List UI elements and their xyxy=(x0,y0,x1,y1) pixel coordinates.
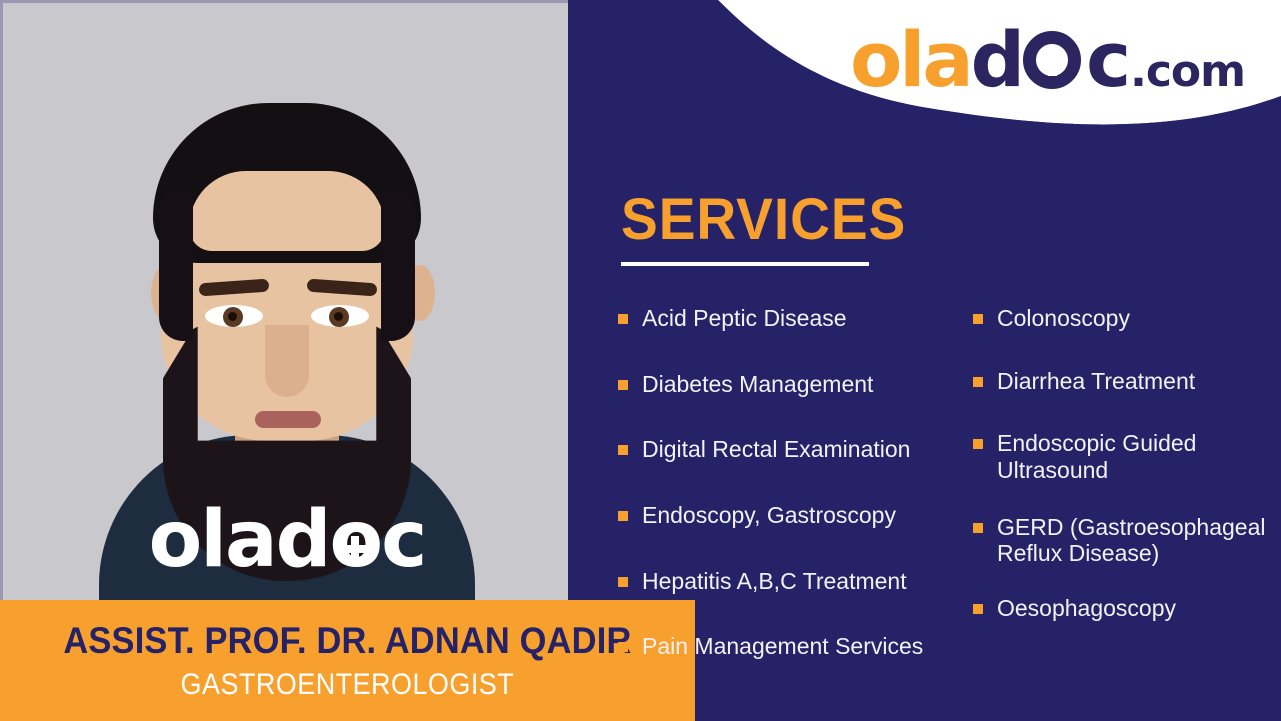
list-item: Pain Management Services xyxy=(618,633,968,660)
watermark-text-before: olad xyxy=(149,495,330,585)
portrait-forehead xyxy=(189,171,385,251)
doctor-services-poster: oladoc ASSIST. PROF. DR. ADNAN QADIR GAS… xyxy=(0,0,1281,721)
portrait-sideburn-right xyxy=(381,191,415,341)
portrait-eye-left xyxy=(205,305,263,327)
watermark-o-plus-icon: o xyxy=(329,501,381,579)
doctor-name: ASSIST. PROF. DR. ADNAN QADIR xyxy=(63,620,631,662)
oladoc-logo: oladc.com xyxy=(850,22,1245,98)
service-label: Endoscopy, Gastroscopy xyxy=(642,502,968,529)
list-item: Oesophagoscopy xyxy=(973,595,1268,622)
bullet-square-icon xyxy=(973,314,983,324)
portrait-eye-right xyxy=(311,305,369,327)
portrait-sideburn-left xyxy=(159,191,193,341)
service-label: Colonoscopy xyxy=(997,305,1268,332)
services-column-right: Colonoscopy Diarrhea Treatment Endoscopi… xyxy=(973,305,1268,658)
service-label: Oesophagoscopy xyxy=(997,595,1268,622)
service-label: Hepatitis A,B,C Treatment xyxy=(642,568,968,595)
list-item: GERD (Gastroesophageal Reflux Disease) xyxy=(973,514,1268,567)
list-item: Endoscopy, Gastroscopy xyxy=(618,502,968,529)
portrait-mouth xyxy=(255,411,321,428)
doctor-name-banner: ASSIST. PROF. DR. ADNAN QADIR GASTROENTE… xyxy=(0,600,695,721)
bullet-square-icon xyxy=(618,380,628,390)
services-heading-underline xyxy=(621,262,869,266)
services-column-left: Acid Peptic Disease Diabetes Management … xyxy=(618,305,968,699)
watermark-text-after: c xyxy=(381,495,425,585)
oladoc-watermark: oladoc xyxy=(3,501,568,579)
service-label: Diabetes Management xyxy=(642,371,968,398)
services-list: Acid Peptic Disease Diabetes Management … xyxy=(618,305,1268,685)
bullet-square-icon xyxy=(973,439,983,449)
bullet-square-icon xyxy=(973,604,983,614)
portrait-cheek-right xyxy=(319,363,371,417)
bullet-square-icon xyxy=(973,377,983,387)
bullet-square-icon xyxy=(618,445,628,455)
bullet-square-icon xyxy=(973,523,983,533)
logo-text-ola: ola xyxy=(850,22,971,98)
list-item: Diabetes Management xyxy=(618,371,968,398)
logo-text-d: d xyxy=(971,22,1022,98)
service-label: Diarrhea Treatment xyxy=(997,368,1268,395)
bullet-square-icon xyxy=(618,511,628,521)
list-item: Acid Peptic Disease xyxy=(618,305,968,332)
portrait-nose xyxy=(265,325,309,397)
service-label: Pain Management Services xyxy=(642,633,968,660)
bullet-square-icon xyxy=(618,314,628,324)
list-item: Hepatitis A,B,C Treatment xyxy=(618,568,968,595)
bullet-square-icon xyxy=(618,577,628,587)
list-item: Endoscopic Guided Ultrasound xyxy=(973,430,1268,483)
service-label: Digital Rectal Examination xyxy=(642,436,968,463)
service-label: Acid Peptic Disease xyxy=(642,305,968,332)
logo-text-c: c xyxy=(1086,22,1128,98)
logo-tld: .com xyxy=(1130,50,1245,94)
list-item: Colonoscopy xyxy=(973,305,1268,332)
services-heading: SERVICES xyxy=(621,191,906,249)
list-item: Digital Rectal Examination xyxy=(618,436,968,463)
doctor-specialty: GASTROENTEROLOGIST xyxy=(181,668,515,702)
doctor-photo-panel: oladoc xyxy=(0,0,568,600)
list-item: Diarrhea Treatment xyxy=(973,368,1268,395)
bullet-square-icon xyxy=(618,642,628,652)
portrait-cheek-left xyxy=(203,363,255,417)
service-label: GERD (Gastroesophageal Reflux Disease) xyxy=(997,514,1268,567)
logo-o-plus-icon xyxy=(1023,31,1085,89)
service-label: Endoscopic Guided Ultrasound xyxy=(997,430,1268,483)
